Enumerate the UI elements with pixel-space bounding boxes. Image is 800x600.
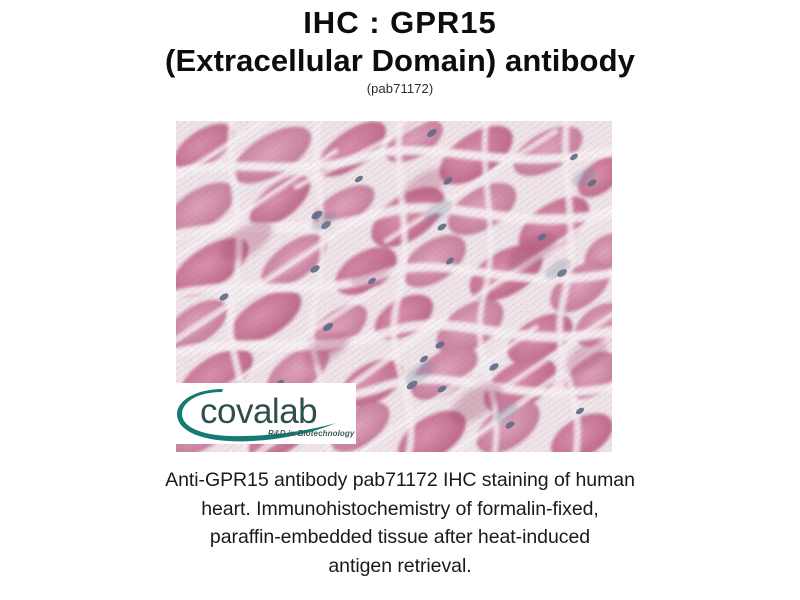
logo-wordmark: covalab bbox=[200, 392, 317, 431]
caption-line: heart. Immunohistochemistry of formalin-… bbox=[0, 495, 800, 524]
logo-tagline: R&D in Biotechnology bbox=[268, 429, 355, 438]
caption-line: paraffin-embedded tissue after heat-indu… bbox=[0, 523, 800, 552]
page-subtitle: (Extracellular Domain) antibody bbox=[0, 44, 800, 77]
caption-line: antigen retrieval. bbox=[0, 552, 800, 581]
covalab-logo-svg: covalab R&D in Biotechnology bbox=[176, 383, 356, 444]
covalab-logo: covalab R&D in Biotechnology bbox=[176, 383, 356, 444]
figure-caption: Anti-GPR15 antibody pab71172 IHC stainin… bbox=[0, 466, 800, 581]
caption-line: Anti-GPR15 antibody pab71172 IHC stainin… bbox=[0, 466, 800, 495]
page-title-block: IHC : GPR15 (Extracellular Domain) antib… bbox=[0, 0, 800, 96]
catalog-number: (pab71172) bbox=[0, 81, 800, 96]
page-title: IHC : GPR15 bbox=[0, 6, 800, 39]
